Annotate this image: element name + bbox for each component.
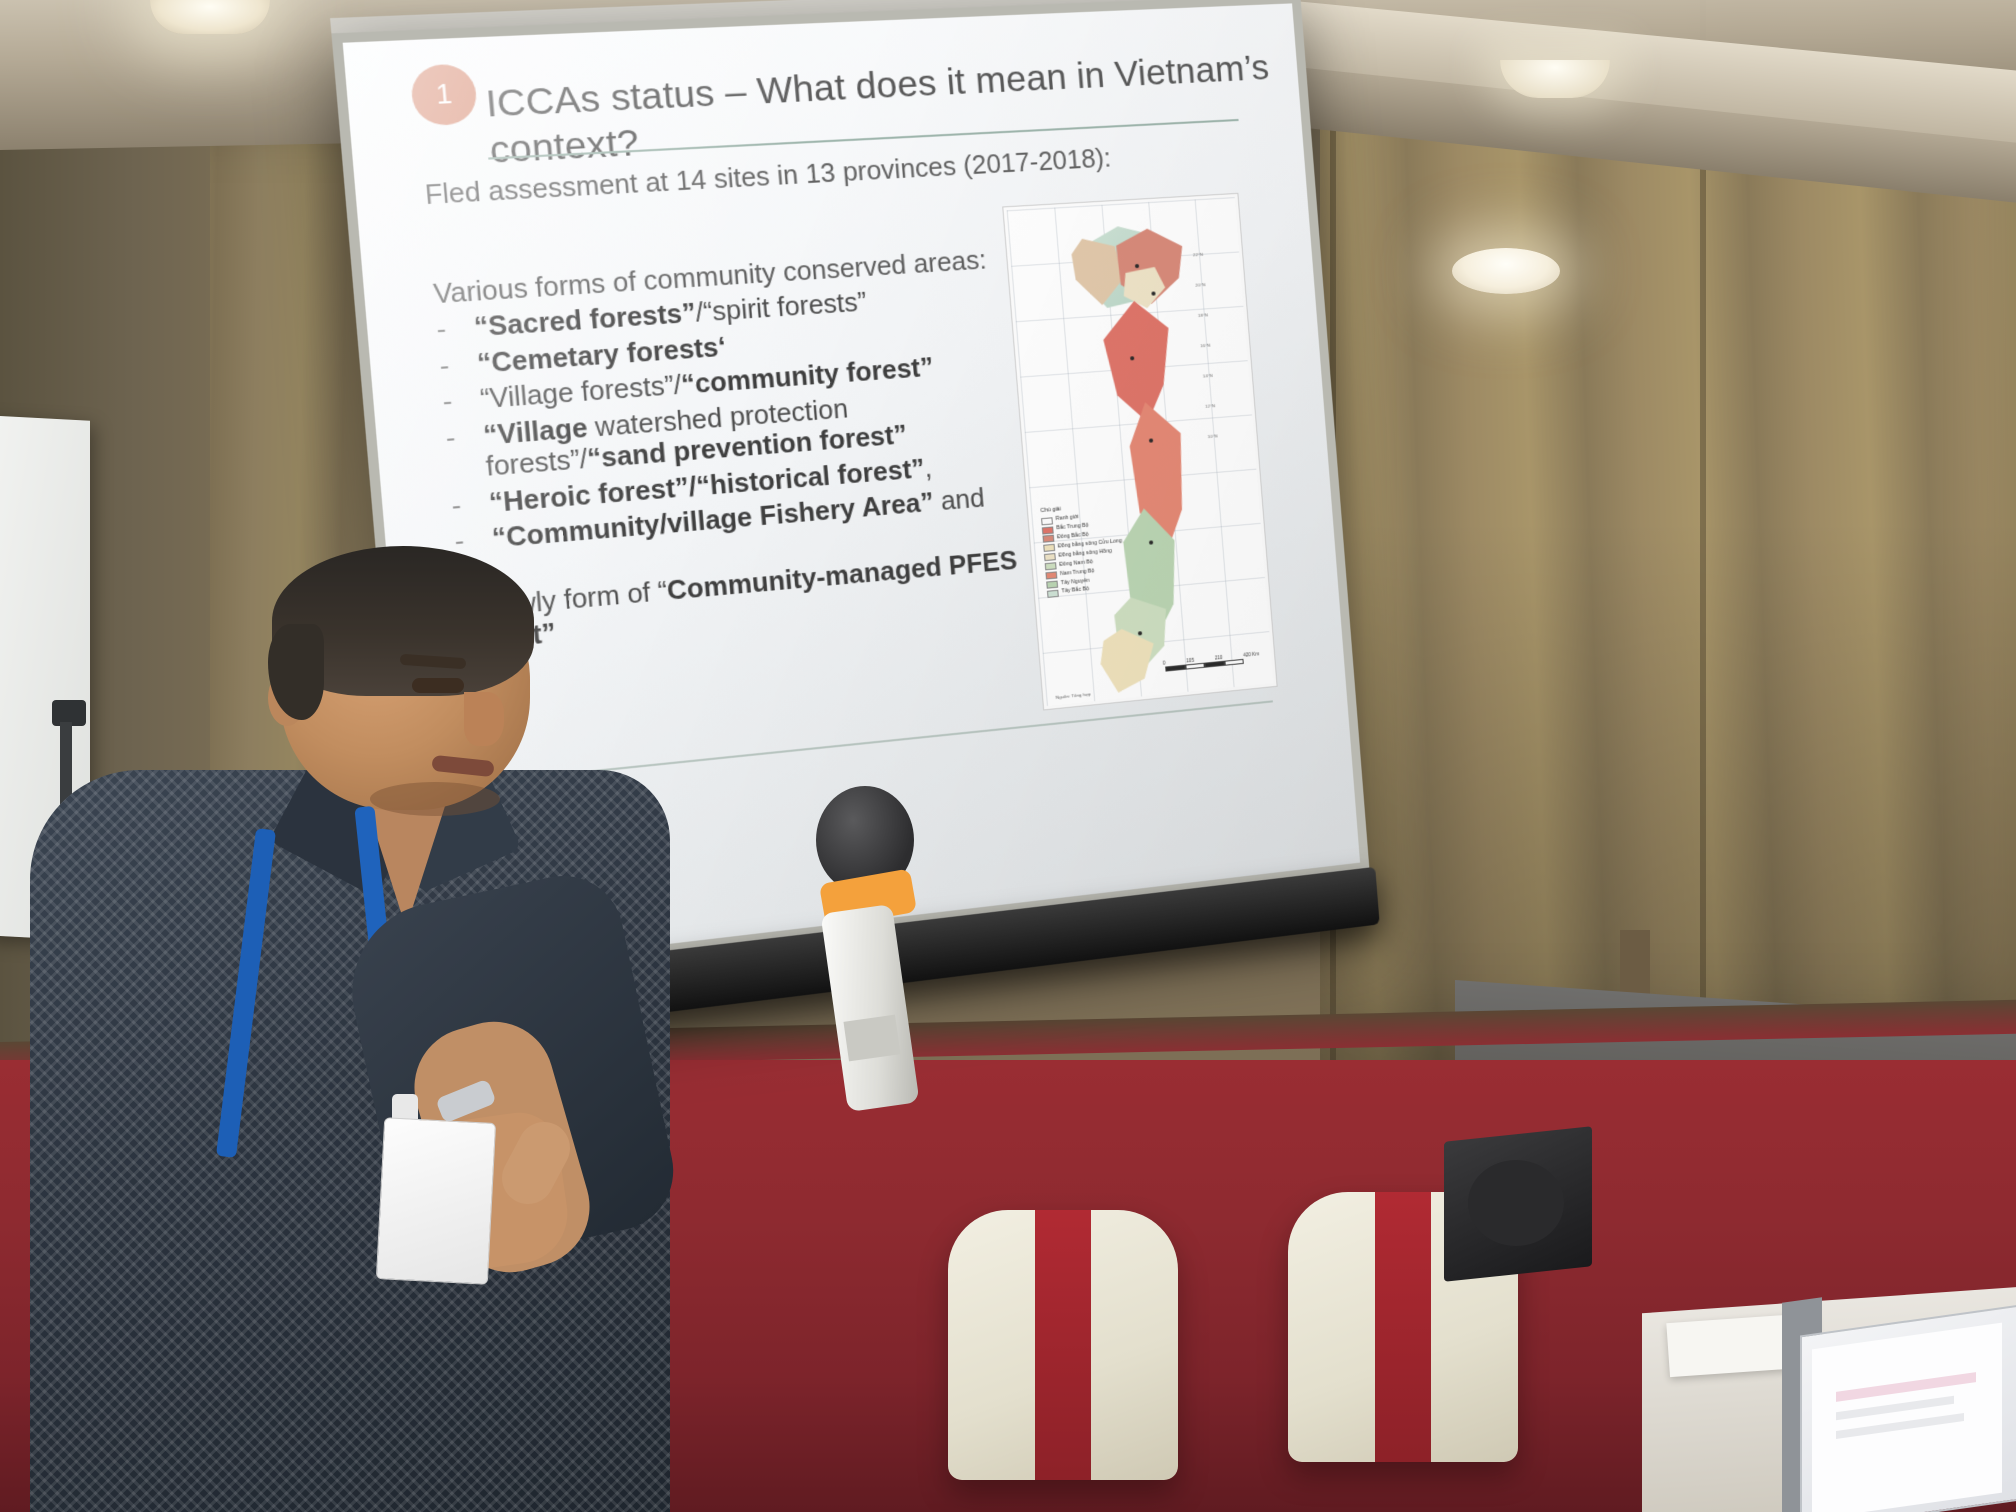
- microphone-label: [843, 1015, 900, 1062]
- microphone[interactable]: [418, 660, 558, 1030]
- scale-label: 0: [1163, 660, 1166, 665]
- legend-swatch: [1045, 571, 1057, 579]
- legend-swatch: [1043, 544, 1055, 552]
- legend-swatch: [1046, 581, 1058, 589]
- bullet-dash: -: [450, 490, 471, 523]
- legend-swatch: [1042, 526, 1054, 534]
- map-legend: Chú giải Ranh giới Bắc Trung Bộ: [1040, 498, 1154, 599]
- slide-bullet-list: - “Sacred forests”/“spirit forests” - “C…: [435, 279, 1021, 563]
- bullet-dash: -: [435, 314, 456, 347]
- scale-label: 420 Km: [1243, 651, 1259, 658]
- legend-swatch: [1043, 535, 1055, 543]
- legend-swatch: [1041, 517, 1053, 525]
- bullet-dash: -: [441, 386, 462, 419]
- legend-swatch: [1044, 553, 1056, 561]
- screenshot-root: 1 ICCAs status – What does it mean in Vi…: [0, 0, 2016, 1512]
- scale-label: 105: [1186, 658, 1194, 664]
- legend-label: Tây Bắc Bộ: [1061, 586, 1089, 597]
- name-badge: [376, 1117, 496, 1285]
- ceiling-light-icon: [150, 0, 270, 34]
- ceiling-light-icon: [1452, 248, 1560, 294]
- bullet-dash: -: [445, 422, 466, 455]
- speaker-cone-icon: [1468, 1160, 1564, 1246]
- bullet-dash: -: [438, 350, 459, 383]
- slide-step-badge: 1: [409, 63, 478, 126]
- legend-swatch: [1047, 590, 1059, 598]
- chair: [948, 1210, 1178, 1480]
- vietnam-map-inset: 22°N20°N18°N16°N14°N12°N10°N Chú giải Ra…: [1002, 193, 1277, 711]
- presenter: [40, 560, 680, 1512]
- map-canvas: 22°N20°N18°N16°N14°N12°N10°N Chú giải Ra…: [1007, 197, 1274, 706]
- chair-sash: [1035, 1210, 1091, 1480]
- chair-sash: [1375, 1192, 1431, 1462]
- scale-label: 210: [1215, 655, 1223, 661]
- legend-swatch: [1045, 562, 1057, 570]
